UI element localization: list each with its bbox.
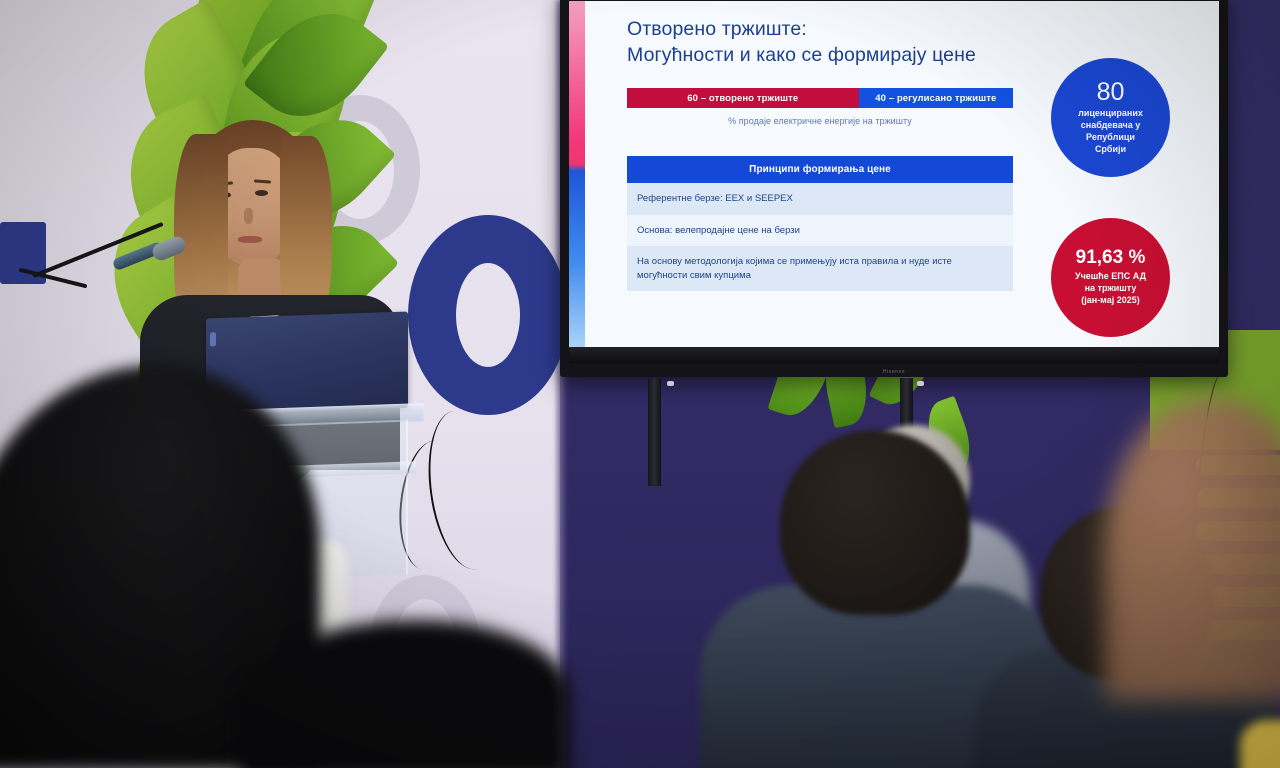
- audience-member-center-head: [780, 430, 970, 615]
- stat-value: 80: [1097, 79, 1125, 105]
- tv-stand-left: [648, 378, 661, 486]
- speaker-eye-right: [255, 190, 268, 196]
- tv-chin: [569, 347, 1219, 363]
- price-principles-table: Принципи формирања цене Референтне берзе…: [627, 156, 1013, 291]
- bar-segment-regulated-market: 40 – регулисано тржиште: [859, 88, 1013, 108]
- slide-title-line2: Могућности и како се формирају цене: [627, 43, 1057, 69]
- audience-member-yellow-accent: [1240, 720, 1280, 768]
- slide-accent-stripe: [569, 1, 585, 363]
- slide-title-line1: Отворено тржиште:: [627, 17, 1057, 43]
- speaker-mouth: [238, 236, 262, 243]
- table-row: Основа: велепродајне цене на берзи: [627, 215, 1013, 246]
- stat-caption: Учешће ЕПС АД на тржишту (јан-мај 2025): [1075, 271, 1146, 307]
- backdrop-letter-o-navy: [408, 215, 568, 415]
- bar-segment-open-market: 60 – отворено тржиште: [627, 88, 859, 108]
- presentation-slide: Отворено тржиште: Могућности и како се ф…: [569, 1, 1219, 363]
- tv-indicator-led-left: [667, 381, 674, 386]
- speaker-nose: [244, 208, 253, 224]
- stat-caption: лиценцираних снабдевача у Републици Срби…: [1078, 108, 1143, 156]
- stat-circle-licensed-suppliers: 80 лиценцираних снабдевача у Републици С…: [1051, 58, 1170, 177]
- price-principles-table-header: Принципи формирања цене: [627, 156, 1013, 183]
- stat-value: 91,63 %: [1076, 248, 1146, 268]
- television: Отворено тржиште: Могућности и како се ф…: [560, 0, 1228, 377]
- slide-title: Отворено тржиште: Могућности и како се ф…: [627, 17, 1057, 68]
- tv-brand-label: Hisense: [883, 369, 905, 375]
- presentation-scene: Отворено тржиште: Могућности и како се ф…: [0, 0, 1280, 768]
- market-split-bar-group: 60 – отворено тржиште 40 – регулисано тр…: [627, 88, 1013, 126]
- table-row: На основу методологија којима се примењу…: [627, 246, 1013, 291]
- market-split-bar: 60 – отворено тржиште 40 – регулисано тр…: [627, 88, 1013, 108]
- table-row: Референтне берзе: EEX и SEEPEX: [627, 183, 1013, 214]
- stat-circle-eps-market-share: 91,63 % Учешће ЕПС АД на тржишту (јан-ма…: [1051, 218, 1170, 337]
- tv-indicator-led-right: [917, 381, 924, 386]
- tv-screen[interactable]: Отворено тржиште: Могућности и како се ф…: [569, 1, 1219, 363]
- market-split-bar-caption: % продаје електричне енергије на тржишту: [627, 116, 1013, 126]
- slide-content: Отворено тржиште: Могућности и како се ф…: [585, 1, 1219, 363]
